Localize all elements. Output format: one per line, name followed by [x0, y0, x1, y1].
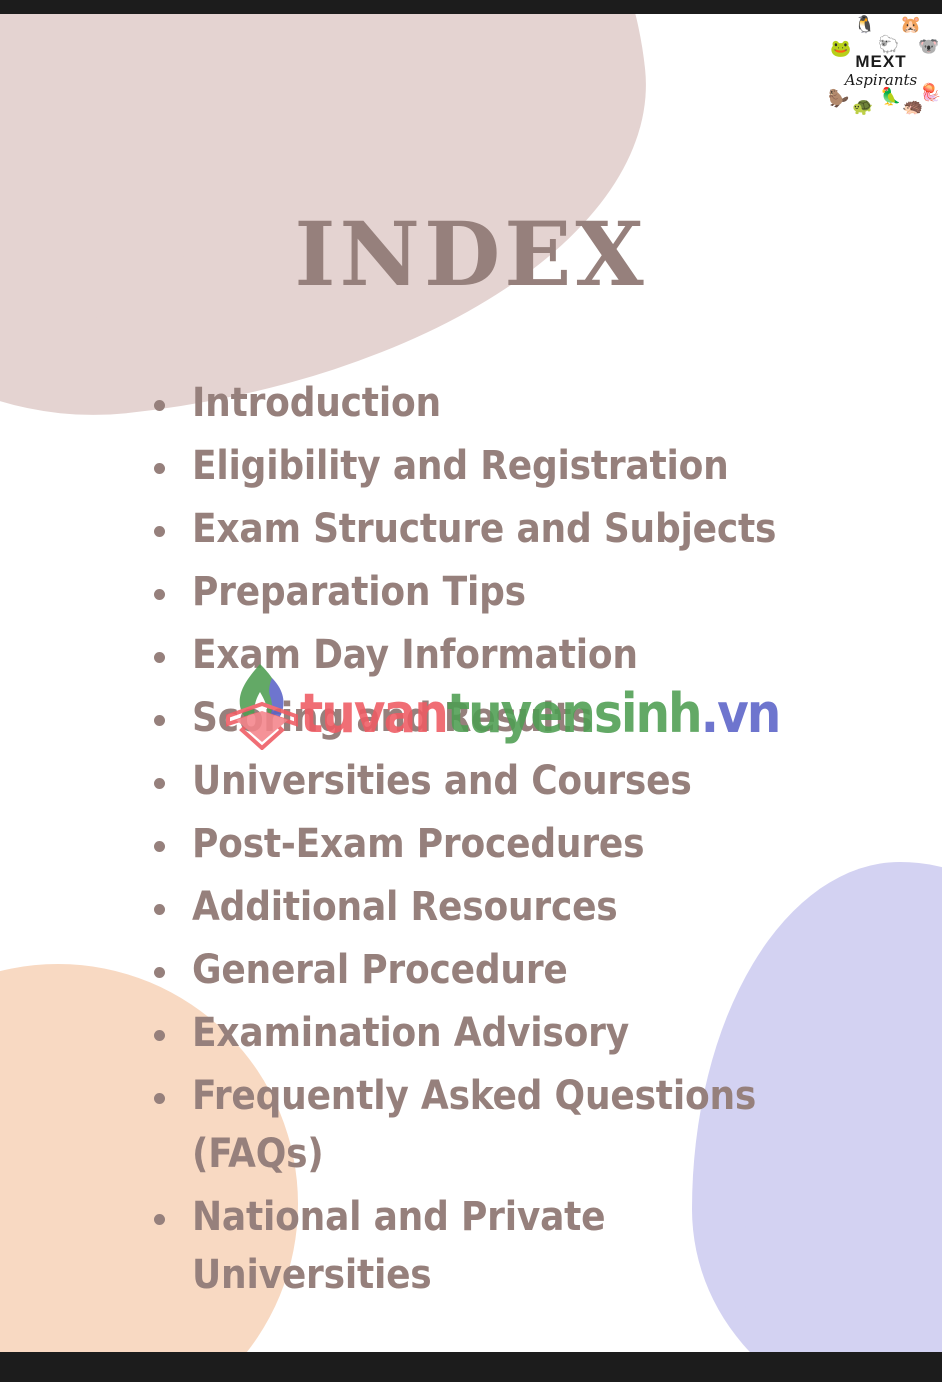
page-title: INDEX: [0, 210, 942, 298]
brand-tagline: Aspirants: [826, 71, 936, 89]
list-item[interactable]: General Procedure: [152, 941, 852, 999]
penguin-icon: 🐧: [854, 16, 875, 33]
list-item[interactable]: Exam Structure and Subjects: [152, 500, 852, 558]
list-item[interactable]: Examination Advisory: [152, 1004, 852, 1062]
parrot-icon: 🦜: [880, 88, 901, 105]
slide-page: 🐸 🐧 🐑 🐹 🐨 🦫 🐢 🦜 🦔 🪼 MEXT Aspirants INDEX…: [0, 0, 942, 1382]
top-letterbox-bar: [0, 0, 942, 14]
brand-name: MEXT: [826, 52, 936, 72]
turtle-icon: 🐢: [852, 98, 873, 115]
slide-canvas: 🐸 🐧 🐑 🐹 🐨 🦫 🐢 🦜 🦔 🪼 MEXT Aspirants INDEX…: [0, 14, 942, 1352]
list-item[interactable]: Eligibility and Registration: [152, 437, 852, 495]
brand-logo: 🐸 🐧 🐑 🐹 🐨 🦫 🐢 🦜 🦔 🪼 MEXT Aspirants: [826, 14, 936, 124]
sheep-icon: 🐑: [878, 36, 899, 53]
list-item[interactable]: Universities and Courses: [152, 752, 852, 810]
list-item[interactable]: Additional Resources: [152, 878, 852, 936]
list-item[interactable]: National and Private Universities: [152, 1188, 852, 1304]
list-item[interactable]: Preparation Tips: [152, 563, 852, 621]
brand-wordmark: MEXT Aspirants: [826, 52, 936, 89]
list-item[interactable]: Scoring and Results: [152, 689, 852, 747]
list-item[interactable]: Introduction: [152, 374, 852, 432]
beaver-icon: 🦫: [828, 90, 849, 107]
hamster-icon: 🐹: [900, 16, 921, 33]
bottom-letterbox-bar: [0, 1352, 942, 1382]
list-item[interactable]: Exam Day Information: [152, 626, 852, 684]
list-item[interactable]: Frequently Asked Questions (FAQs): [152, 1067, 852, 1183]
index-list: Introduction Eligibility and Registratio…: [152, 374, 852, 1309]
list-item[interactable]: Post-Exam Procedures: [152, 815, 852, 873]
